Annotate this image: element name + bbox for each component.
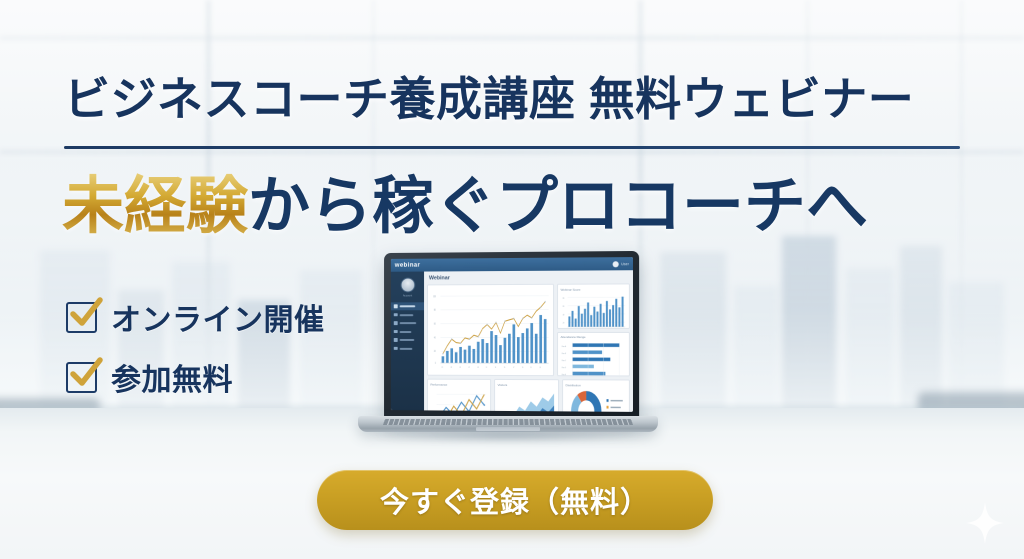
line-chart-performance: 0103 0507 <box>430 388 487 412</box>
feature-list: オンライン開催 参加無料 <box>66 295 325 399</box>
svg-text:0: 0 <box>435 362 436 364</box>
subheadline-rest: から稼ぐプロコーチへ <box>248 172 868 241</box>
sidebar-item-label <box>400 314 414 316</box>
subheadline-highlight: 未経験 <box>62 172 248 241</box>
svg-text:11: 11 <box>485 366 486 368</box>
laptop-screen: webinar User Account <box>391 257 633 412</box>
gear-icon <box>394 338 398 342</box>
sidebar-item-label <box>400 331 412 333</box>
list-item-label: オンライン開催 <box>111 295 325 339</box>
donut-legend <box>606 399 623 412</box>
laptop-keyboard <box>383 419 633 425</box>
chart-card-main-combo[interactable]: 10080 6040 200 <box>427 284 554 376</box>
title-divider <box>64 146 960 149</box>
svg-text:Row B: Row B <box>561 352 566 354</box>
svg-text:80: 80 <box>562 297 564 299</box>
sparkle-star-icon <box>964 500 1006 546</box>
sidebar-item-label <box>400 347 413 349</box>
horizontal-bar-chart: Row ARow B Row CRow D Row E <box>561 341 627 379</box>
card-title: Performance <box>430 382 487 386</box>
svg-text:Row E: Row E <box>561 374 566 376</box>
list-item: 参加無料 <box>66 355 325 399</box>
list-item: オンライン開催 <box>66 295 325 339</box>
svg-text:20: 20 <box>433 350 435 352</box>
sidebar-item-support[interactable] <box>391 344 424 352</box>
svg-text:01: 01 <box>441 366 442 368</box>
chart-card-webinar-score[interactable]: Webinar Score 8060 4020 <box>557 283 630 328</box>
svg-text:Row C: Row C <box>561 359 566 361</box>
bar-chart-score: 8060 4020 <box>561 293 627 331</box>
dashboard-sidebar: Account <box>391 272 424 411</box>
svg-text:60: 60 <box>433 323 435 325</box>
svg-text:60: 60 <box>562 306 564 308</box>
dashboard-user-menu[interactable]: User <box>613 261 629 267</box>
subheadline: 未経験から稼ぐプロコーチへ <box>62 168 982 246</box>
svg-text:40: 40 <box>433 337 435 339</box>
laptop-lid: webinar User Account <box>384 251 639 421</box>
chart-card-performance[interactable]: Performance <box>427 379 491 412</box>
register-cta-button[interactable]: 今すぐ登録（無料） <box>317 470 713 530</box>
svg-text:15: 15 <box>503 366 504 368</box>
svg-text:03: 03 <box>450 366 451 368</box>
dashboard-body: Account <box>391 270 633 412</box>
sidebar-item-reports[interactable] <box>391 328 424 336</box>
svg-text:100: 100 <box>433 295 436 297</box>
users-icon <box>394 321 398 325</box>
user-avatar-icon <box>400 278 415 293</box>
chart-card-visitors[interactable]: Visitors <box>494 379 559 412</box>
laptop-shadow <box>372 432 644 443</box>
user-avatar-icon <box>613 261 619 267</box>
checkbox-check-icon <box>66 362 97 393</box>
dashboard-brand: webinar <box>395 262 421 269</box>
svg-text:07: 07 <box>468 366 469 368</box>
laptop-trackpad <box>476 427 540 431</box>
chart-card-attendance-range[interactable]: Attendance Range Row ARow B Row CRow D R… <box>557 331 630 376</box>
svg-text:23: 23 <box>539 366 540 368</box>
combo-chart: 10080 6040 200 <box>430 287 550 372</box>
svg-text:Row A: Row A <box>561 344 566 348</box>
sidebar-item-settings[interactable] <box>391 336 424 344</box>
svg-text:20: 20 <box>562 322 564 324</box>
sidebar-item-dashboard[interactable] <box>391 302 424 310</box>
svg-text:21: 21 <box>530 366 531 368</box>
sidebar-item-webinars[interactable] <box>391 311 424 319</box>
svg-text:19: 19 <box>521 366 522 368</box>
help-icon <box>394 347 398 351</box>
laptop-mockup: webinar User Account <box>358 252 658 448</box>
sidebar-item-label <box>400 305 416 307</box>
dashboard-user-label: User <box>621 262 629 266</box>
area-chart-visitors <box>498 388 556 412</box>
grid-icon <box>394 305 398 309</box>
dashboard-main: Webinar <box>424 270 633 412</box>
donut-chart-distribution <box>566 388 627 412</box>
svg-text:05: 05 <box>459 366 460 368</box>
chart-icon <box>394 330 398 334</box>
card-title: Attendance Range <box>561 335 627 339</box>
list-item-label: 参加無料 <box>111 355 233 399</box>
card-title: Distribution <box>566 383 627 387</box>
svg-text:17: 17 <box>512 366 513 368</box>
svg-text:80: 80 <box>433 309 435 311</box>
card-title: Webinar Score <box>561 287 627 291</box>
sidebar-item-label <box>400 322 417 324</box>
sidebar-item-label <box>400 339 415 341</box>
page-title: ビジネスコーチ養成講座 無料ウェビナー <box>64 68 964 130</box>
svg-text:13: 13 <box>494 366 495 368</box>
svg-text:09: 09 <box>477 366 478 368</box>
svg-text:Row D: Row D <box>561 366 566 368</box>
sidebar-item-attendees[interactable] <box>391 319 424 327</box>
card-title: Visitors <box>498 382 556 386</box>
sidebar-account-name: Account <box>391 294 424 297</box>
video-icon <box>394 313 398 317</box>
register-cta-label: 今すぐ登録（無料） <box>380 479 650 521</box>
checkbox-check-icon <box>66 302 97 333</box>
hero-banner: ビジネスコーチ養成講座 無料ウェビナー 未経験から稼ぐプロコーチへ オンライン開… <box>0 0 1024 559</box>
chart-card-distribution[interactable]: Distribution <box>562 379 630 412</box>
dashboard-page-title: Webinar <box>429 274 630 281</box>
svg-text:40: 40 <box>562 314 564 316</box>
